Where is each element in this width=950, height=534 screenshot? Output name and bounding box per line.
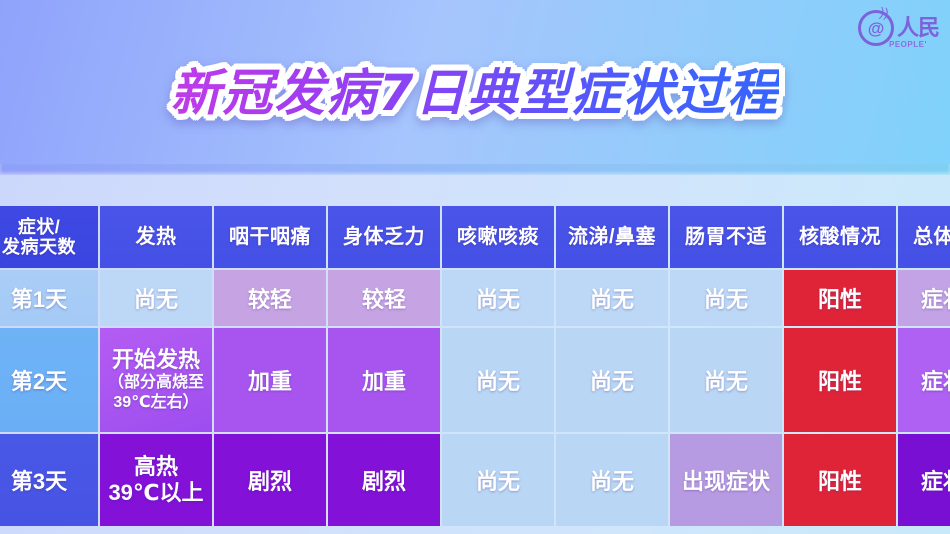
cell-day1-cough: 尚无 [442, 270, 554, 326]
cell-day3-gi: 出现症状 [670, 434, 782, 526]
cell-day2-fatigue: 加重 [328, 328, 440, 432]
cell-day2-fever-main: 开始发热 [100, 347, 212, 373]
row-label-day1: 第1天 [0, 270, 98, 326]
cell-day1-fever: 尚无 [100, 270, 212, 326]
cell-day2-throat: 加重 [214, 328, 326, 432]
table-row: 第3天 高热 39℃以上 剧烈 剧烈 尚无 尚无 出现症状 阳性 症状最 [0, 434, 950, 526]
cell-day1-nose: 尚无 [556, 270, 668, 326]
header-gastrointestinal: 肠胃不适 [670, 206, 782, 268]
table-row: 第1天 尚无 较轻 较轻 尚无 尚无 尚无 阳性 症状较 [0, 270, 950, 326]
cell-day2-fever-sub1: （部分高烧至 [100, 373, 212, 393]
cell-day1-pcr: 阳性 [784, 270, 896, 326]
header-fever: 发热 [100, 206, 212, 268]
row-label-day2: 第2天 [0, 328, 98, 432]
cell-day2-overall: 症状加 [898, 328, 950, 432]
page-title: 新冠发病7日典型症状过程 [0, 68, 950, 118]
logo-subtitle: PEOPLE' [889, 40, 927, 49]
cell-day3-throat: 剧烈 [214, 434, 326, 526]
cell-day2-nose: 尚无 [556, 328, 668, 432]
header-sore-throat: 咽干咽痛 [214, 206, 326, 268]
cell-day2-fever: 开始发热 （部分高烧至 39℃左右） [100, 328, 212, 432]
header-fatigue: 身体乏力 [328, 206, 440, 268]
cell-day3-fatigue: 剧烈 [328, 434, 440, 526]
symptom-table: 症状/ 发病天数 发热 咽干咽痛 身体乏力 咳嗽咳痰 流涕/鼻塞 肠胃不适 核酸… [0, 204, 950, 528]
header-runny-nose: 流涕/鼻塞 [556, 206, 668, 268]
header-day-line2: 发病天数 [2, 237, 76, 257]
page-title-text: 新冠发病7日典型症状过程 [171, 64, 780, 122]
cell-day1-throat: 较轻 [214, 270, 326, 326]
table-header-row: 症状/ 发病天数 发热 咽干咽痛 身体乏力 咳嗽咳痰 流涕/鼻塞 肠胃不适 核酸… [0, 206, 950, 268]
cell-day2-fever-sub2: 39℃左右） [100, 393, 212, 413]
cell-day1-overall: 症状较 [898, 270, 950, 326]
header-day-line1: 症状/ [18, 217, 61, 237]
section-divider [0, 164, 950, 175]
header-pcr-status: 核酸情况 [784, 206, 896, 268]
cell-day3-nose: 尚无 [556, 434, 668, 526]
peoples-daily-logo: @ )) 人民 PEOPLE' [858, 4, 950, 52]
cell-day3-cough: 尚无 [442, 434, 554, 526]
symptom-progression-table: 症状/ 发病天数 发热 咽干咽痛 身体乏力 咳嗽咳痰 流涕/鼻塞 肠胃不适 核酸… [0, 204, 950, 528]
cell-day3-fever-main: 高热 [100, 454, 212, 480]
logo-name: 人民 [897, 17, 939, 39]
cell-day1-gi: 尚无 [670, 270, 782, 326]
cell-day3-overall: 症状最 [898, 434, 950, 526]
cell-day1-fatigue: 较轻 [328, 270, 440, 326]
table-row: 第2天 开始发热 （部分高烧至 39℃左右） 加重 加重 尚无 尚无 尚无 阳性… [0, 328, 950, 432]
row-label-day3: 第3天 [0, 434, 98, 526]
cell-day2-gi: 尚无 [670, 328, 782, 432]
header-cough: 咳嗽咳痰 [442, 206, 554, 268]
cell-day3-fever: 高热 39℃以上 [100, 434, 212, 526]
header-overall: 总体情况 [898, 206, 950, 268]
header-day: 症状/ 发病天数 [0, 206, 98, 268]
cell-day3-fever-sub1: 39℃以上 [100, 480, 212, 506]
cell-day3-pcr: 阳性 [784, 434, 896, 526]
cell-day2-pcr: 阳性 [784, 328, 896, 432]
cell-day2-cough: 尚无 [442, 328, 554, 432]
